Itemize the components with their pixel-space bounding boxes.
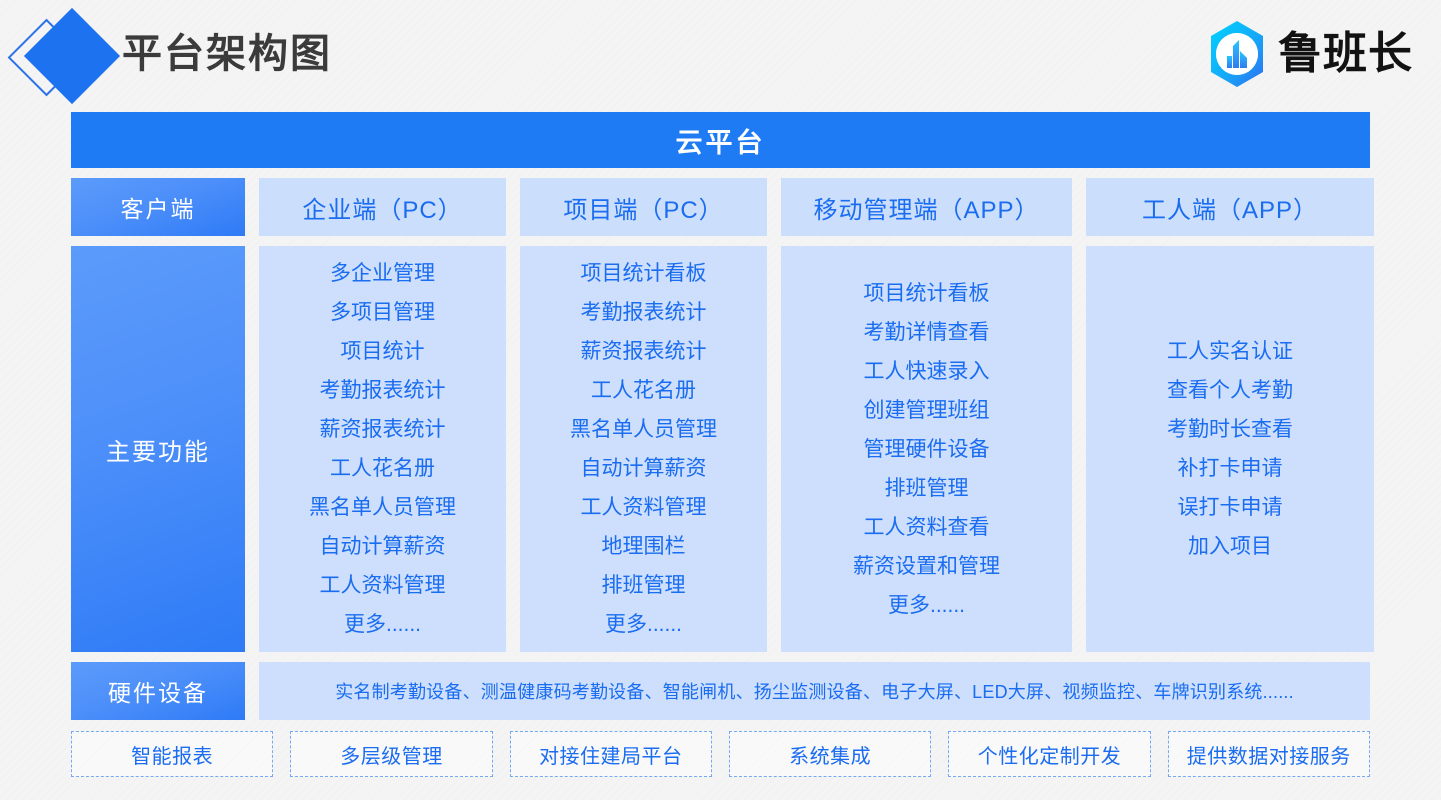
list-item[interactable]: 项目统计 (341, 332, 425, 371)
list-item[interactable]: 排班管理 (885, 469, 969, 508)
list-item[interactable]: 项目统计看板 (581, 254, 707, 293)
feature-list-worker-app: 工人实名认证 查看个人考勤 考勤时长查看 补打卡申请 误打卡申请 加入项目 (1086, 246, 1374, 652)
list-item[interactable]: 薪资报表统计 (320, 410, 446, 449)
list-item-more[interactable]: 更多...... (888, 586, 965, 625)
hardware-device-list: 实名制考勤设备、测温健康码考勤设备、智能闸机、扬尘监测设备、电子大屏、LED大屏… (259, 662, 1370, 720)
column-header-project-pc[interactable]: 项目端（PC） (520, 178, 767, 236)
client-header-cells: 企业端（PC） 项目端（PC） 移动管理端（APP） 工人端（APP） (259, 178, 1374, 236)
feature-list-enterprise-pc: 多企业管理 多项目管理 项目统计 考勤报表统计 薪资报表统计 工人花名册 黑名单… (259, 246, 506, 652)
list-item[interactable]: 误打卡申请 (1178, 488, 1283, 527)
brand-name: 鲁班长 (1278, 32, 1413, 76)
list-item[interactable]: 多项目管理 (330, 293, 435, 332)
list-item[interactable]: 自动计算薪资 (581, 449, 707, 488)
side-label-hardware: 硬件设备 (71, 662, 245, 720)
column-header-mobile-admin-app[interactable]: 移动管理端（APP） (781, 178, 1072, 236)
list-item[interactable]: 考勤报表统计 (581, 293, 707, 332)
list-item[interactable]: 补打卡申请 (1178, 449, 1283, 488)
chip-smart-report[interactable]: 智能报表 (71, 731, 273, 777)
list-item[interactable]: 创建管理班组 (864, 391, 990, 430)
diamond-mark-icon (8, 8, 116, 100)
list-item[interactable]: 黑名单人员管理 (309, 488, 456, 527)
list-item[interactable]: 多企业管理 (330, 254, 435, 293)
list-item[interactable]: 查看个人考勤 (1167, 371, 1293, 410)
feature-list-mobile-admin-app: 项目统计看板 考勤详情查看 工人快速录入 创建管理班组 管理硬件设备 排班管理 … (781, 246, 1072, 652)
side-label-main-features: 主要功能 (71, 246, 245, 652)
feature-columns: 多企业管理 多项目管理 项目统计 考勤报表统计 薪资报表统计 工人花名册 黑名单… (259, 246, 1374, 652)
list-item[interactable]: 考勤详情查看 (864, 313, 990, 352)
chip-multilevel-management[interactable]: 多层级管理 (290, 731, 492, 777)
list-item[interactable]: 薪资设置和管理 (853, 547, 1000, 586)
side-label-client: 客户端 (71, 178, 245, 236)
list-item[interactable]: 地理围栏 (602, 527, 686, 566)
chip-system-integration[interactable]: 系统集成 (729, 731, 931, 777)
list-item[interactable]: 项目统计看板 (864, 274, 990, 313)
chip-data-docking-service[interactable]: 提供数据对接服务 (1168, 731, 1370, 777)
list-item[interactable]: 工人资料查看 (864, 508, 990, 547)
chip-housing-bureau-platform[interactable]: 对接住建局平台 (510, 731, 712, 777)
list-item[interactable]: 工人花名册 (330, 449, 435, 488)
client-header-row: 客户端 企业端（PC） 项目端（PC） 移动管理端（APP） 工人端（APP） (71, 178, 1370, 236)
list-item[interactable]: 黑名单人员管理 (570, 410, 717, 449)
list-item[interactable]: 排班管理 (602, 566, 686, 605)
title-block: 平台架构图 (8, 8, 332, 100)
list-item[interactable]: 工人花名册 (591, 371, 696, 410)
luban-hexagon-logo-icon (1206, 20, 1268, 88)
list-item[interactable]: 薪资报表统计 (581, 332, 707, 371)
feature-list-project-pc: 项目统计看板 考勤报表统计 薪资报表统计 工人花名册 黑名单人员管理 自动计算薪… (520, 246, 767, 652)
hardware-row: 硬件设备 实名制考勤设备、测温健康码考勤设备、智能闸机、扬尘监测设备、电子大屏、… (71, 662, 1370, 720)
list-item[interactable]: 管理硬件设备 (864, 430, 990, 469)
list-item-more[interactable]: 更多...... (344, 605, 421, 644)
architecture-board: 云平台 客户端 企业端（PC） 项目端（PC） 移动管理端（APP） 工人端（A… (71, 112, 1370, 777)
column-header-enterprise-pc[interactable]: 企业端（PC） (259, 178, 506, 236)
page-title: 平台架构图 (122, 34, 332, 74)
list-item[interactable]: 工人资料管理 (581, 488, 707, 527)
list-item[interactable]: 工人资料管理 (320, 566, 446, 605)
list-item[interactable]: 自动计算薪资 (320, 527, 446, 566)
diamond-solid-shape (24, 8, 120, 104)
list-item[interactable]: 工人实名认证 (1167, 332, 1293, 371)
page-header: 平台架构图 鲁班长 (0, 0, 1441, 108)
main-features-row: 主要功能 多企业管理 多项目管理 项目统计 考勤报表统计 薪资报表统计 工人花名… (71, 246, 1370, 652)
cloud-platform-bar: 云平台 (71, 112, 1370, 168)
list-item[interactable]: 考勤报表统计 (320, 371, 446, 410)
service-chip-row: 智能报表 多层级管理 对接住建局平台 系统集成 个性化定制开发 提供数据对接服务 (71, 731, 1370, 777)
brand-logo: 鲁班长 (1206, 20, 1413, 88)
chip-custom-development[interactable]: 个性化定制开发 (948, 731, 1150, 777)
list-item-more[interactable]: 更多...... (605, 605, 682, 644)
list-item[interactable]: 工人快速录入 (864, 352, 990, 391)
column-header-worker-app[interactable]: 工人端（APP） (1086, 178, 1374, 236)
list-item[interactable]: 加入项目 (1188, 527, 1272, 566)
list-item[interactable]: 考勤时长查看 (1167, 410, 1293, 449)
